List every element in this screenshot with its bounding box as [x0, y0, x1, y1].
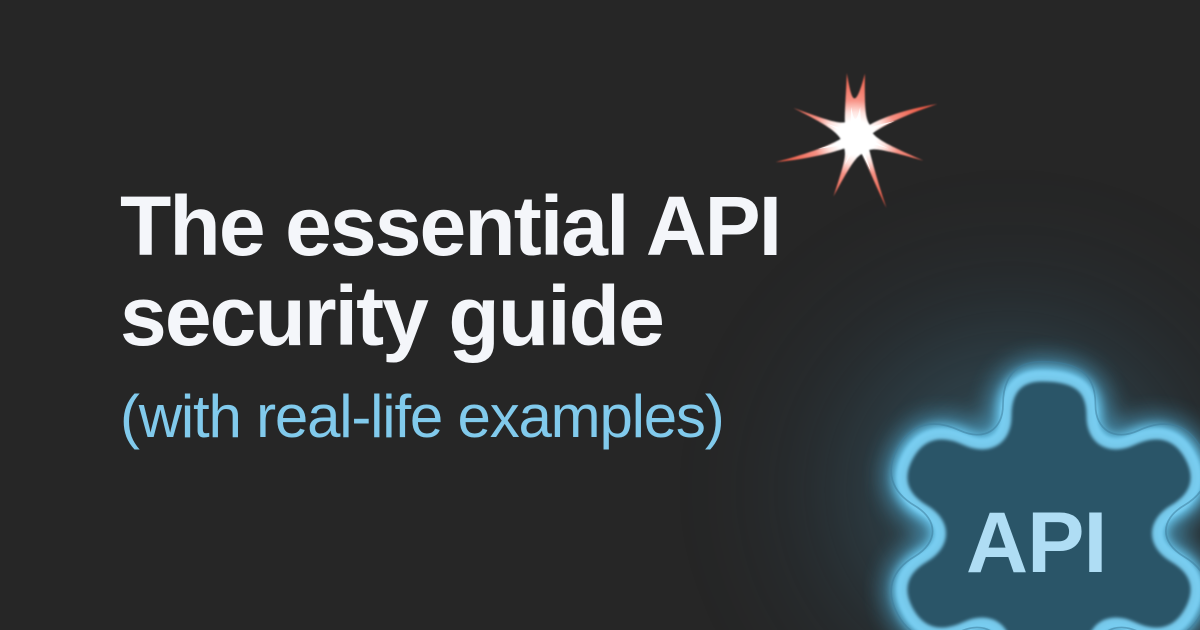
page-title: The essential API security guide [120, 182, 920, 362]
text-block: The essential API security guide (with r… [120, 182, 920, 450]
social-card: The essential API security guide (with r… [0, 0, 1200, 630]
gear-label: API [966, 500, 1106, 586]
page-subtitle: (with real-life examples) [120, 384, 920, 450]
